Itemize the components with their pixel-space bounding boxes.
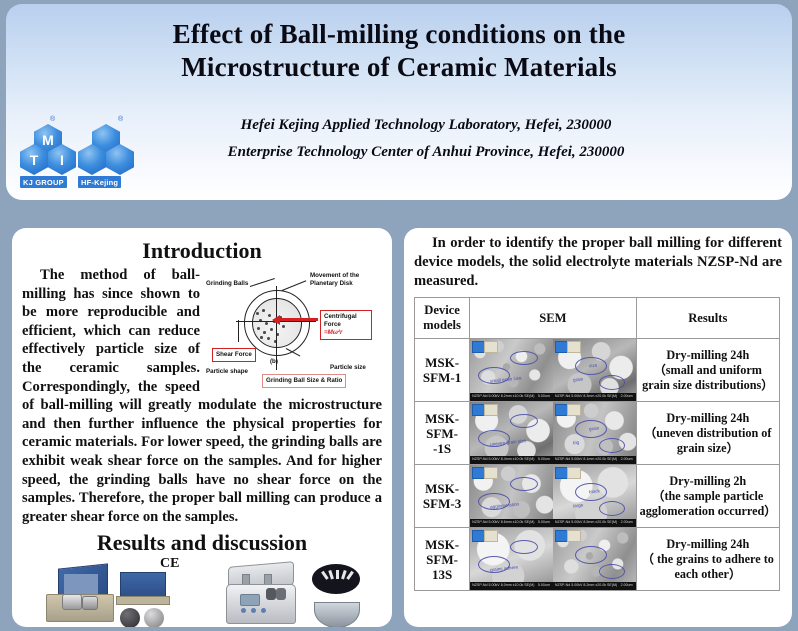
result-line: grain size） <box>640 441 776 456</box>
device-model-line: SFM- <box>416 426 468 441</box>
leader-movement <box>282 280 306 291</box>
sem-scalebar-info: NZSP-Nd 5.00kV 8.4mm x10.0k SE(M) <box>472 457 534 461</box>
sem-annotation-ellipse <box>510 414 538 428</box>
ball-mill-accessory-icon <box>312 564 360 594</box>
cell-device-model: MSK-SFM-13S <box>415 528 470 591</box>
centrifugal-arrow-head-icon <box>272 315 280 325</box>
sem-scalebar-info: NZSP-Nd 5.00kV 8.6mm x10.0k SE(M) <box>472 520 534 524</box>
cell-device-model: MSK-SFM-3 <box>415 465 470 528</box>
sem-annotation-ellipse <box>599 564 625 579</box>
affiliations: Hefei Kejing Applied Technology Laborato… <box>126 112 726 166</box>
sem-scale-bar: NZSP-Nd 5.00kV 8.6mm x10.0k SE(M)5.00um <box>470 519 553 527</box>
introduction-panel: Introduction <box>12 228 392 627</box>
sem-scalebar-info: NZSP-Nd 5.00kV 8.1mm x20.0k SE(M) <box>555 457 617 461</box>
result-line: （the sample particle <box>640 489 776 504</box>
sem-overlay-badge-icon <box>484 341 498 353</box>
device-model-line: SFM-1 <box>416 370 468 385</box>
sem-results-table: Device models SEM Results MSK-SFM-1small… <box>414 297 780 591</box>
table-row: MSK-SFM-13Sgrains adhereNZSP-Nd 5.00kV 8… <box>415 528 780 591</box>
result-line: Dry-milling 24h <box>640 348 776 363</box>
sem-overlay-badge-icon <box>567 467 581 479</box>
logo-label-kj-group: KJ GROUP <box>20 176 67 188</box>
centrifugal-force-text: Centrifugal Force <box>324 313 357 328</box>
registered-mark-icon: ® <box>50 116 55 123</box>
company-logo: ® M T I KJ GROUP ® HF-Kejing <box>20 116 148 194</box>
sem-annotation-label: grain <box>589 425 600 431</box>
sem-scale-bar: NZSP-Nd 5.00kV 8.5mm x20.0k SE(M)2.00um <box>553 519 636 527</box>
affiliation-line-1: Hefei Kejing Applied Technology Laborato… <box>126 112 726 139</box>
sem-annotation-ellipse <box>599 375 625 390</box>
sem-scalebar-info: NZSP-Nd 5.00kV 8.2mm x10.0k SE(M) <box>472 394 534 398</box>
sem-annotation-label: large <box>573 502 584 508</box>
sem-scalebar-scale: 5.00um <box>538 394 550 398</box>
device-model-line: SFM- <box>416 552 468 567</box>
leader-shear <box>238 320 239 342</box>
sem-annotation-ellipse <box>510 351 538 365</box>
device-model-line: MSK- <box>416 537 468 552</box>
device-model-line: MSK- <box>416 355 468 370</box>
sem-scalebar-scale: 5.00um <box>538 457 550 461</box>
cell-sem-images: small grain sizeNZSP-Nd 5.00kV 8.2mm x10… <box>470 339 636 402</box>
result-line: agglomeration occurred） <box>640 504 776 519</box>
mortar-accessory-icon <box>314 602 360 627</box>
leader-grinding-balls <box>250 278 275 287</box>
results-intro-text: In order to identify the proper ball mil… <box>414 234 782 291</box>
device-model-line: 13S <box>416 567 468 582</box>
results-table-panel: In order to identify the proper ball mil… <box>404 228 792 627</box>
result-line: each other） <box>640 567 776 582</box>
column-header-sem: SEM <box>470 298 636 339</box>
sem-micrograph-right: biggrainNZSP-Nd 5.00kV 8.1mm x20.0k SE(M… <box>553 402 636 464</box>
table-header-row: Device models SEM Results <box>415 298 780 339</box>
label-particle-shape: Particle shape <box>206 368 248 376</box>
registered-mark-icon-2: ® <box>118 116 123 123</box>
device-model-line: SFM-3 <box>416 496 468 511</box>
sem-annotation-label: big <box>573 440 580 446</box>
cell-result-text: Dry-milling 2h（the sample particleagglom… <box>636 465 779 528</box>
device-model-line: MSK- <box>416 481 468 496</box>
sem-annotation-label: grain <box>573 376 584 382</box>
sem-micrograph-right: NZSP-Nd 5.00kV 8.2mm x20.0k SE(M)2.00um <box>553 528 636 590</box>
table-row: MSK-SFM-3agglomerationNZSP-Nd 5.00kV 8.6… <box>415 465 780 528</box>
sem-micrograph-left: agglomerationNZSP-Nd 5.00kV 8.6mm x10.0k… <box>470 465 553 527</box>
introduction-heading: Introduction <box>22 238 382 264</box>
sem-scalebar-scale: 2.00um <box>621 520 633 524</box>
title-line-1: Effect of Ball-milling conditions on the <box>66 18 732 51</box>
equipment-photos: CE (a) <box>22 558 382 627</box>
sem-micrograph-left: small grain sizeNZSP-Nd 5.00kV 8.2mm x10… <box>470 339 553 401</box>
label-grinding-ball-ratio: Grinding Ball Size & Ratio <box>262 374 346 388</box>
sem-scalebar-scale: 2.00um <box>621 394 633 398</box>
affiliation-line-2: Enterprise Technology Center of Anhui Pr… <box>126 139 726 166</box>
sem-overlay-badge-icon <box>567 341 581 353</box>
sem-scale-bar: NZSP-Nd 5.00kV 8.2mm x10.0k SE(M)5.00um <box>470 393 553 401</box>
sem-scale-bar: NZSP-Nd 5.00kV 8.3mm x20.0k SE(M)2.00um <box>553 393 636 401</box>
sem-scale-bar: NZSP-Nd 5.00kV 8.2mm x20.0k SE(M)2.00um <box>553 582 636 590</box>
mixer-mill-photo: (b) <box>208 558 378 627</box>
sem-overlay-badge-icon <box>567 404 581 416</box>
sem-scalebar-scale: 2.00um <box>621 583 633 587</box>
sem-micrograph-right: largeblockNZSP-Nd 5.00kV 8.5mm x20.0k SE… <box>553 465 636 527</box>
sem-micrograph-left: uneven grain sizeNZSP-Nd 5.00kV 8.4mm x1… <box>470 402 553 464</box>
result-line: （uneven distribution of <box>640 426 776 441</box>
sem-scalebar-info: NZSP-Nd 5.00kV 8.3mm x20.0k SE(M) <box>555 394 617 398</box>
planetary-ball-mill-photo: (a) <box>28 558 188 627</box>
device-model-line: -1S <box>416 441 468 456</box>
sem-overlay-badge-icon <box>484 530 498 542</box>
planetary-mill-diagram: Grinding Balls Movement of the Planetary… <box>206 268 382 392</box>
label-grinding-balls: Grinding Balls <box>206 280 248 288</box>
device-model-line: MSK- <box>416 411 468 426</box>
sem-scalebar-info: NZSP-Nd 5.00kV 8.2mm x20.0k SE(M) <box>555 583 617 587</box>
result-line: （small and uniform <box>640 363 776 378</box>
sem-scalebar-scale: 5.00um <box>538 520 550 524</box>
sem-scalebar-scale: 2.00um <box>621 457 633 461</box>
centrifugal-arrow-icon <box>278 318 318 321</box>
sem-overlay-badge-icon <box>484 467 498 479</box>
cell-sem-images: agglomerationNZSP-Nd 5.00kV 8.6mm x10.0k… <box>470 465 636 528</box>
cell-device-model: MSK-SFM-1 <box>415 339 470 402</box>
column-header-device-models: Device models <box>415 298 470 339</box>
logo-label-hf-kejing: HF-Kejing <box>78 176 121 188</box>
sem-scale-bar: NZSP-Nd 5.00kV 8.0mm x10.0k SE(M)5.00um <box>470 582 553 590</box>
result-line: Dry-milling 2h <box>640 474 776 489</box>
result-line: Dry-milling 24h <box>640 411 776 426</box>
sem-scalebar-scale: 5.00um <box>538 583 550 587</box>
sem-annotation-ellipse <box>599 438 625 453</box>
cell-result-text: Dry-milling 24h（small and uniformgrain s… <box>636 339 779 402</box>
sem-annotation-label: size <box>589 363 598 369</box>
label-movement-planetary-disk: Movement of the Planetary Disk <box>310 272 359 288</box>
centrifugal-force-formula: =Mω²r <box>324 329 342 336</box>
page-title: Effect of Ball-milling conditions on the… <box>66 18 732 84</box>
sem-annotation-ellipse <box>510 477 538 491</box>
label-subfigure-b: (b) <box>270 358 278 366</box>
sem-micrograph-right: grainsizeNZSP-Nd 5.00kV 8.3mm x20.0k SE(… <box>553 339 636 401</box>
poster-root: Effect of Ball-milling conditions on the… <box>0 0 798 631</box>
sem-annotation-ellipse <box>510 540 538 554</box>
cell-sem-images: uneven grain sizeNZSP-Nd 5.00kV 8.4mm x1… <box>470 402 636 465</box>
cell-device-model: MSK-SFM--1S <box>415 402 470 465</box>
title-line-2: Microstructure of Ceramic Materials <box>66 51 732 84</box>
cell-result-text: Dry-milling 24h（uneven distribution ofgr… <box>636 402 779 465</box>
sem-overlay-badge-icon <box>484 404 498 416</box>
label-centrifugal-force: Centrifugal Force =Mω²r <box>320 310 372 340</box>
sem-overlay-badge-icon <box>567 530 581 542</box>
sem-micrograph-left: grains adhereNZSP-Nd 5.00kV 8.0mm x10.0k… <box>470 528 553 590</box>
result-line: grain size distributions） <box>640 378 776 393</box>
result-line: （ the grains to adhere to <box>640 552 776 567</box>
table-row: MSK-SFM--1Suneven grain sizeNZSP-Nd 5.00… <box>415 402 780 465</box>
sem-annotation-ellipse <box>575 546 607 564</box>
poster-header: Effect of Ball-milling conditions on the… <box>6 4 792 200</box>
sem-scale-bar: NZSP-Nd 5.00kV 8.4mm x10.0k SE(M)5.00um <box>470 456 553 464</box>
sem-scalebar-info: NZSP-Nd 5.00kV 8.0mm x10.0k SE(M) <box>472 583 534 587</box>
sem-annotation-ellipse <box>599 501 625 516</box>
label-particle-size: Particle size <box>330 364 366 372</box>
column-header-results: Results <box>636 298 779 339</box>
cell-result-text: Dry-milling 24h（ the grains to adhere to… <box>636 528 779 591</box>
grinding-balls-icon <box>254 308 296 344</box>
table-row: MSK-SFM-1small grain sizeNZSP-Nd 5.00kV … <box>415 339 780 402</box>
sem-scale-bar: NZSP-Nd 5.00kV 8.1mm x20.0k SE(M)2.00um <box>553 456 636 464</box>
sem-scalebar-info: NZSP-Nd 5.00kV 8.5mm x20.0k SE(M) <box>555 520 617 524</box>
result-line: Dry-milling 24h <box>640 537 776 552</box>
label-shear-force: Shear Force <box>212 348 256 362</box>
cell-sem-images: grains adhereNZSP-Nd 5.00kV 8.0mm x10.0k… <box>470 528 636 591</box>
results-heading: Results and discussion <box>22 530 382 556</box>
